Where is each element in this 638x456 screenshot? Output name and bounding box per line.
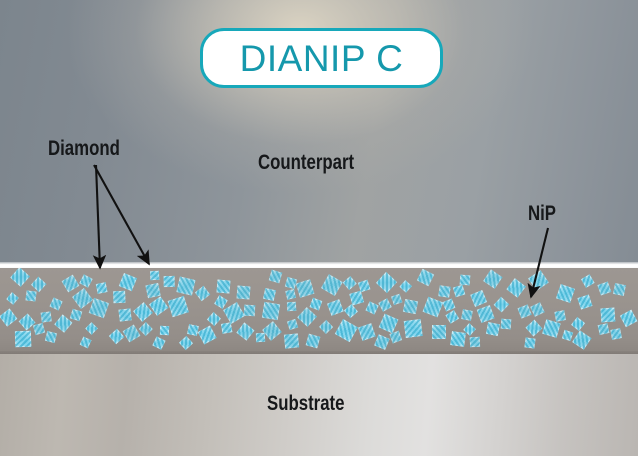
diamond-particle	[417, 269, 435, 287]
diamond-particle	[85, 322, 98, 335]
diamond-particle	[391, 294, 403, 306]
label-diamond: Diamond	[48, 138, 120, 159]
diamond-particle	[379, 313, 399, 333]
diamond-particle	[562, 329, 574, 341]
diamond-particle	[470, 290, 487, 307]
diamond-particle	[344, 304, 358, 318]
label-counterpart: Counterpart	[258, 152, 354, 173]
diamond-particle	[263, 288, 276, 301]
diamond-particle	[399, 280, 412, 293]
diamond-particle	[577, 294, 592, 309]
diamond-particle	[358, 323, 376, 341]
diamond-particle	[343, 276, 356, 289]
diamond-particle	[571, 317, 585, 331]
diamond-particle	[179, 335, 193, 349]
diamond-particle	[214, 295, 227, 308]
diamond-particle	[309, 298, 321, 310]
diamond-particle	[262, 302, 281, 321]
diamond-particle	[149, 270, 159, 280]
diamond-particle	[194, 286, 210, 302]
diamond-particle	[350, 291, 364, 305]
diamond-particle	[613, 283, 626, 296]
diamond-particle	[483, 270, 502, 289]
diamond-particle	[118, 309, 131, 322]
diamond-particle	[525, 319, 542, 336]
diamond-particle	[573, 330, 592, 349]
diamond-particle	[581, 275, 594, 288]
diamond-particle	[461, 309, 472, 320]
diamond-particle	[139, 322, 153, 336]
diamond-particle	[494, 297, 509, 312]
diamond-particle	[33, 323, 45, 335]
diamond-particle	[610, 328, 622, 340]
diamond-particle	[287, 318, 298, 329]
diamond-particle	[506, 279, 526, 299]
diamond-particle	[176, 277, 195, 296]
diamond-particle	[160, 326, 170, 336]
diamond-particle	[6, 292, 19, 305]
diamond-particle	[146, 283, 161, 298]
diamond-particle	[486, 321, 500, 335]
diamond-particle	[530, 302, 545, 317]
diamond-particle	[556, 284, 575, 303]
diamond-particle	[450, 332, 466, 348]
diamond-particle	[79, 337, 91, 349]
diamond-particle	[69, 309, 82, 322]
diamond-particle	[358, 280, 371, 293]
diamond-particle	[119, 272, 137, 290]
diamond-particle	[164, 276, 175, 287]
diamond-particle	[327, 299, 343, 315]
diamond-particle	[378, 299, 392, 313]
diamond-particle	[555, 310, 567, 322]
diamond-particle	[256, 333, 265, 342]
diamond-particle	[15, 331, 32, 348]
diamond-particle	[40, 312, 51, 323]
diamond-particle	[524, 337, 535, 348]
diamond-particle	[0, 309, 17, 327]
diamond-particle	[374, 334, 389, 349]
diamond-particle	[187, 324, 198, 335]
layer-nip-coating	[0, 268, 638, 354]
diamond-particle	[598, 323, 609, 334]
diamond-particle	[390, 331, 402, 343]
diagram-canvas: DIANIP C Diamond Counterpart NiP Substra…	[0, 0, 638, 456]
diamond-particle	[123, 324, 141, 342]
diamond-particle	[470, 336, 480, 346]
diamond-particle	[62, 274, 80, 292]
diamond-particle	[221, 323, 232, 334]
diamond-particle	[10, 268, 30, 287]
diamond-particle	[366, 301, 380, 315]
diamond-particle	[287, 302, 297, 312]
diamond-particle	[268, 270, 282, 284]
diamond-particle	[601, 307, 616, 322]
diamond-particle	[207, 312, 221, 326]
title-text: DIANIP C	[240, 40, 404, 77]
diamond-particle	[285, 277, 297, 289]
diamond-particle	[528, 270, 549, 291]
diamond-particle	[96, 282, 107, 293]
diamond-particle	[297, 307, 317, 327]
diamond-particle	[422, 297, 442, 317]
diamond-particle	[597, 282, 611, 296]
diamond-particle	[403, 299, 418, 314]
diamond-particle	[263, 321, 283, 341]
diamond-particle	[335, 319, 357, 341]
diamond-particle	[460, 275, 471, 286]
diamond-particle	[285, 289, 296, 300]
diamond-particle	[445, 310, 459, 324]
title-badge: DIANIP C	[200, 28, 443, 88]
diamond-particle	[45, 331, 57, 343]
diamond-particle	[168, 296, 189, 317]
label-nip: NiP	[528, 203, 556, 224]
diamond-particle	[223, 302, 245, 324]
diamond-particle	[500, 319, 511, 330]
diamond-particle	[26, 290, 38, 302]
diamond-particle	[432, 325, 446, 339]
diamond-particle	[620, 310, 638, 328]
diamond-particle	[79, 275, 92, 288]
diamond-particle	[438, 285, 450, 297]
diamond-particle	[404, 319, 423, 338]
diamond-particle	[49, 298, 63, 312]
diamond-particle	[306, 334, 321, 349]
diamond-particle	[112, 290, 125, 303]
diamond-particle	[542, 319, 560, 337]
diamond-particle	[321, 274, 342, 295]
label-substrate: Substrate	[267, 393, 344, 414]
diamond-particle	[152, 336, 165, 349]
diamond-particle	[376, 272, 397, 293]
diamond-particle	[244, 305, 256, 317]
diamond-particle	[236, 322, 254, 340]
diamond-particle	[216, 280, 230, 294]
diamond-particle	[296, 279, 314, 297]
diamond-particle	[319, 320, 333, 334]
diamond-particle	[452, 285, 465, 298]
diamond-particle	[477, 305, 494, 322]
diamond-particle	[197, 325, 216, 344]
diamond-particle	[285, 333, 300, 348]
diamond-particle	[237, 285, 251, 299]
diamond-particle	[72, 288, 93, 309]
